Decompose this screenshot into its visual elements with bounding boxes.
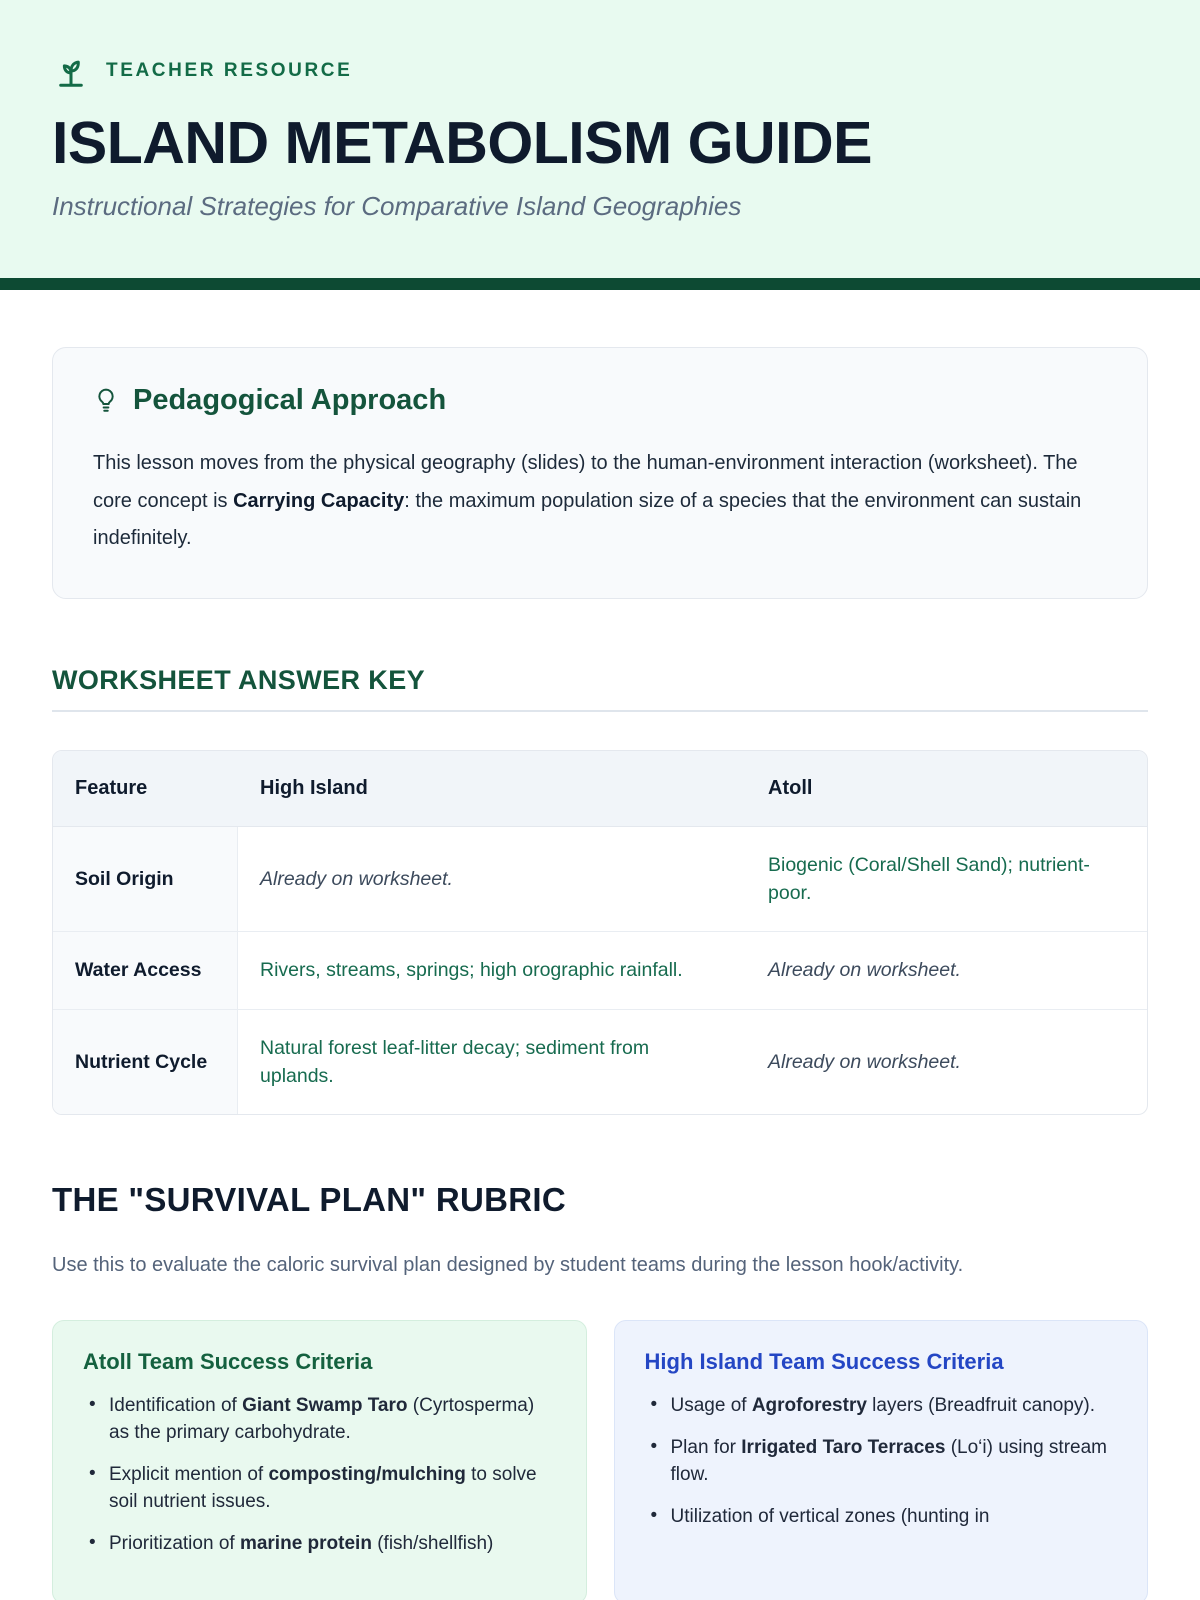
item-text-pre: Usage of xyxy=(671,1395,752,1416)
table-body: Soil Origin Already on worksheet. Biogen… xyxy=(53,827,1147,1114)
table-row: Nutrient Cycle Natural forest leaf-litte… xyxy=(53,1010,1147,1115)
list-item: Explicit mention of composting/mulching … xyxy=(83,1462,556,1516)
document-body: Pedagogical Approach This lesson moves f… xyxy=(0,347,1200,1600)
callout-body-text: This lesson moves from the physical geog… xyxy=(93,445,1107,558)
column-header-high-island: High Island xyxy=(238,751,746,827)
document-header: TEACHER RESOURCE ISLAND METABOLISM GUIDE… xyxy=(0,0,1200,290)
item-text-bold: Giant Swamp Taro xyxy=(242,1395,407,1416)
table-row: Water Access Rivers, streams, springs; h… xyxy=(53,932,1147,1009)
lightbulb-icon xyxy=(93,386,119,416)
sprout-icon xyxy=(52,52,90,90)
cell-high-island: Natural forest leaf-litter decay; sedime… xyxy=(238,1010,746,1115)
answer-key-table: Feature High Island Atoll Soil Origin Al… xyxy=(52,750,1148,1115)
callout-bold-term: Carrying Capacity xyxy=(233,490,404,512)
item-text-bold: marine protein xyxy=(240,1533,372,1554)
eyebrow-label: TEACHER RESOURCE xyxy=(106,60,352,82)
rubric-lead-text: Use this to evaluate the caloric surviva… xyxy=(52,1249,1052,1282)
high-island-criteria-title: High Island Team Success Criteria xyxy=(645,1349,1118,1375)
list-item: Identification of Giant Swamp Taro (Cyrt… xyxy=(83,1393,556,1447)
cell-feature: Soil Origin xyxy=(53,827,238,933)
cell-high-island: Already on worksheet. xyxy=(238,827,746,933)
item-text-post: (fish/shellfish) xyxy=(372,1533,493,1554)
atoll-criteria-title: Atoll Team Success Criteria xyxy=(83,1349,556,1375)
atoll-criteria-list: Identification of Giant Swamp Taro (Cyrt… xyxy=(83,1393,556,1558)
item-text-bold: Irrigated Taro Terraces xyxy=(741,1437,945,1458)
cell-high-island: Rivers, streams, springs; high orographi… xyxy=(238,932,746,1009)
cell-atoll: Already on worksheet. xyxy=(746,932,1147,1009)
answer-filled: Natural forest leaf-litter decay; sedime… xyxy=(260,1037,649,1087)
rubric-heading: THE "SURVIVAL PLAN" RUBRIC xyxy=(52,1181,1148,1219)
answer-placeholder: Already on worksheet. xyxy=(768,1051,961,1073)
page-title: ISLAND METABOLISM GUIDE xyxy=(52,112,1148,175)
callout-header: Pedagogical Approach xyxy=(93,384,1107,417)
item-text-pre: Prioritization of xyxy=(109,1533,240,1554)
table-row: Soil Origin Already on worksheet. Biogen… xyxy=(53,827,1147,933)
high-island-criteria-list: Usage of Agroforestry layers (Breadfruit… xyxy=(645,1393,1118,1531)
item-text-pre: Explicit mention of xyxy=(109,1464,268,1485)
column-header-feature: Feature xyxy=(53,751,238,827)
eyebrow-row: TEACHER RESOURCE xyxy=(52,52,1148,90)
rubric-card-grid: Atoll Team Success Criteria Identificati… xyxy=(52,1320,1148,1600)
answer-placeholder: Already on worksheet. xyxy=(768,959,961,981)
table-header-row: Feature High Island Atoll xyxy=(53,751,1147,827)
callout-title: Pedagogical Approach xyxy=(133,384,446,417)
cell-feature: Water Access xyxy=(53,932,238,1009)
list-item: Prioritization of marine protein (fish/s… xyxy=(83,1531,556,1558)
pedagogical-approach-card: Pedagogical Approach This lesson moves f… xyxy=(52,347,1148,599)
item-text-pre: Plan for xyxy=(671,1437,742,1458)
item-text-pre: Identification of xyxy=(109,1395,242,1416)
answer-placeholder: Already on worksheet. xyxy=(260,868,453,890)
list-item: Utilization of vertical zones (hunting i… xyxy=(645,1504,1118,1531)
column-header-atoll: Atoll xyxy=(746,751,1147,827)
high-island-criteria-card: High Island Team Success Criteria Usage … xyxy=(614,1320,1149,1600)
cell-atoll: Biogenic (Coral/Shell Sand); nutrient-po… xyxy=(746,827,1147,933)
list-item: Usage of Agroforestry layers (Breadfruit… xyxy=(645,1393,1118,1420)
item-text-post: layers (Breadfruit canopy). xyxy=(867,1395,1095,1416)
atoll-criteria-card: Atoll Team Success Criteria Identificati… xyxy=(52,1320,587,1600)
answer-filled: Biogenic (Coral/Shell Sand); nutrient-po… xyxy=(768,854,1090,904)
cell-feature: Nutrient Cycle xyxy=(53,1010,238,1115)
cell-atoll: Already on worksheet. xyxy=(746,1010,1147,1115)
list-item: Plan for Irrigated Taro Terraces (Lo‘i) … xyxy=(645,1435,1118,1489)
item-text-pre: Utilization of vertical zones (hunting i… xyxy=(671,1506,990,1527)
answer-filled: Rivers, streams, springs; high orographi… xyxy=(260,959,683,981)
item-text-bold: Agroforestry xyxy=(752,1395,867,1416)
table-head: Feature High Island Atoll xyxy=(53,751,1147,827)
item-text-bold: composting/mulching xyxy=(268,1464,465,1485)
answer-key-heading: WORKSHEET ANSWER KEY xyxy=(52,665,1148,712)
page-subtitle: Instructional Strategies for Comparative… xyxy=(52,191,1148,222)
